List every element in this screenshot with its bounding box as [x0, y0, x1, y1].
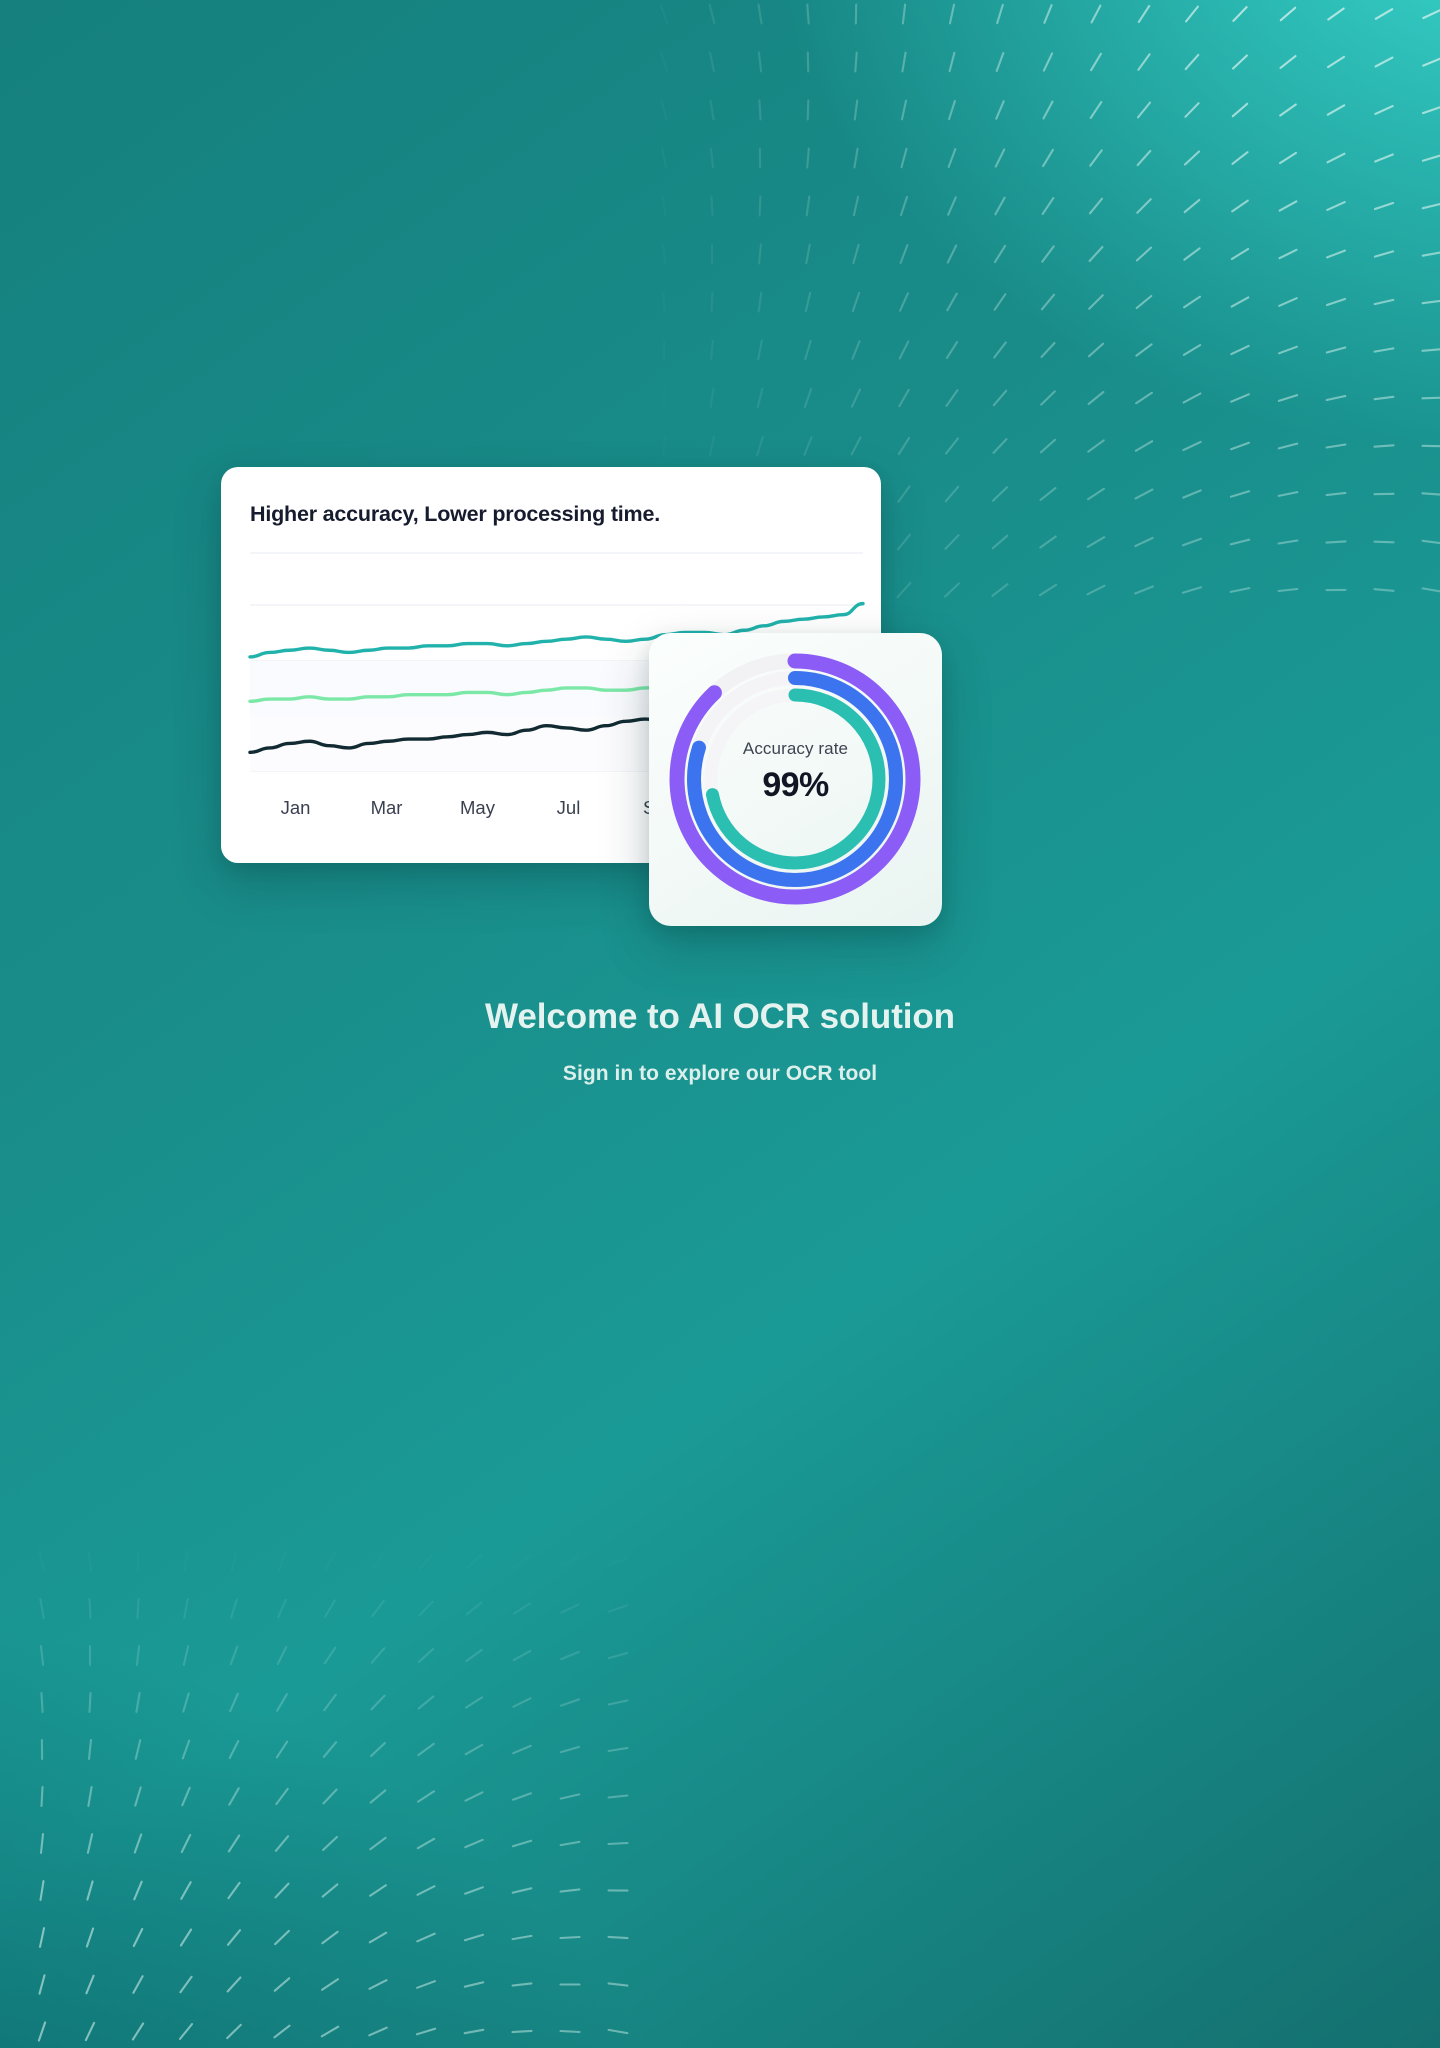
decorative-dash	[609, 1983, 628, 1985]
decorative-dash	[1375, 397, 1394, 399]
decorative-dash	[663, 389, 664, 408]
decorative-dash	[899, 438, 909, 454]
decorative-dash	[1231, 491, 1249, 497]
decorative-dash	[1090, 150, 1101, 165]
decorative-dash	[561, 1699, 579, 1705]
decorative-dash	[1375, 251, 1393, 256]
decorative-dash	[852, 389, 860, 406]
decorative-dash	[133, 1976, 142, 1993]
hero-copy: Welcome to AI OCR solution Sign in to ex…	[0, 997, 1440, 1086]
decorative-dash	[1375, 542, 1394, 543]
decorative-dash	[278, 1600, 286, 1617]
decorative-dash	[466, 1697, 482, 1707]
decorative-dash	[662, 101, 667, 119]
decorative-dash	[1279, 395, 1297, 401]
decorative-dash	[609, 1748, 628, 1751]
decorative-dash	[1280, 105, 1296, 116]
decorative-dash	[1091, 102, 1102, 118]
decorative-dash	[1423, 588, 1440, 591]
decorative-dash	[808, 101, 809, 120]
decorative-dash	[372, 1601, 384, 1616]
decorative-dash	[1186, 55, 1199, 69]
decorative-dash	[1040, 585, 1056, 595]
decorative-dash	[1279, 444, 1297, 449]
decorative-dash	[1279, 347, 1297, 354]
decorative-dash	[419, 1649, 433, 1662]
decorative-dash	[514, 1651, 531, 1660]
decorative-dash	[1044, 5, 1051, 23]
decorative-dash	[609, 1937, 628, 1938]
decorative-dash	[465, 1982, 483, 1986]
decorative-dash	[853, 293, 859, 311]
decorative-dash	[1044, 102, 1053, 119]
decorative-dash	[947, 390, 958, 406]
decorative-dash	[135, 1835, 141, 1853]
decorative-dash	[513, 1983, 532, 1985]
axis-tick-jan: Jan	[250, 797, 341, 837]
decorative-dash	[1423, 349, 1440, 351]
decorative-dash	[1231, 443, 1249, 449]
decorative-dash	[514, 1603, 530, 1613]
decorative-dash	[807, 197, 810, 216]
decorative-dash	[90, 1599, 91, 1618]
decorative-dash	[373, 1554, 384, 1570]
decorative-dash	[324, 1742, 336, 1757]
decorative-dash	[136, 1693, 139, 1712]
decorative-dash	[322, 1979, 338, 1990]
decorative-dash	[86, 2023, 94, 2040]
decorative-dash	[1327, 493, 1346, 495]
decorative-dash	[89, 1552, 91, 1571]
decorative-dash	[1328, 9, 1343, 20]
decorative-dash	[661, 53, 667, 71]
decorative-dash	[323, 1837, 337, 1850]
decorative-dash	[324, 1695, 335, 1710]
decorative-dash	[899, 486, 910, 501]
decorative-dash	[276, 1789, 287, 1804]
decorative-dash	[40, 1552, 44, 1570]
decorative-dash	[712, 293, 713, 312]
decorative-dash	[1328, 105, 1344, 114]
decorative-dash	[277, 1742, 287, 1758]
accuracy-rate-value: 99%	[649, 766, 942, 805]
decorative-dash	[609, 1796, 628, 1798]
decorative-dash	[87, 1929, 93, 1947]
decorative-dash	[1183, 587, 1201, 592]
decorative-dash	[90, 1693, 91, 1712]
decorative-dash	[136, 1740, 140, 1759]
decorative-dash	[1423, 204, 1440, 208]
decorative-dash	[137, 1646, 139, 1665]
decorative-dash	[711, 341, 713, 360]
decorative-dash	[854, 197, 858, 216]
decorative-dash	[1043, 198, 1054, 214]
decorative-dash	[184, 1646, 188, 1664]
decorative-dash	[996, 101, 1003, 118]
decorative-dash	[183, 1693, 188, 1711]
decorative-dash	[1089, 295, 1103, 308]
axis-tick-mar: Mar	[341, 797, 432, 837]
decorative-dash	[417, 1981, 435, 1988]
decorative-dash	[181, 1882, 190, 1899]
decorative-dash	[371, 1790, 386, 1802]
decorative-dash	[1090, 199, 1102, 214]
decorative-dash	[1327, 445, 1346, 448]
decorative-dash	[1233, 7, 1246, 21]
decorative-dash	[663, 437, 665, 456]
decorative-dash	[324, 1790, 337, 1804]
decorative-dash	[41, 1834, 43, 1853]
decorative-dash	[949, 101, 955, 119]
decorative-dash	[1135, 538, 1152, 546]
decorative-dash	[561, 1652, 579, 1659]
decorative-dash	[806, 293, 810, 311]
decorative-dash	[231, 1647, 238, 1665]
decorative-dash	[513, 1793, 531, 1799]
decorative-dash	[40, 1928, 44, 1947]
decorative-dash	[88, 1787, 91, 1806]
decorative-dash	[466, 1745, 483, 1754]
decorative-dash	[853, 341, 860, 359]
decorative-dash	[467, 1555, 481, 1568]
decorative-dash	[88, 1834, 92, 1853]
decorative-dash	[1042, 343, 1055, 357]
decorative-dash	[1279, 541, 1298, 544]
decorative-dash	[562, 1557, 579, 1566]
decorative-dash	[228, 1930, 240, 1945]
decorative-dash	[513, 2031, 532, 2032]
decorative-dash	[418, 1791, 434, 1801]
decorative-dash	[326, 1553, 335, 1570]
decorative-dash	[711, 101, 714, 120]
decorative-dash	[561, 1747, 579, 1752]
decorative-dash	[1327, 299, 1345, 305]
decorative-dash	[181, 1930, 191, 1946]
decorative-dash	[185, 1552, 187, 1571]
decorative-dash	[661, 5, 667, 23]
decorative-dash	[1279, 298, 1296, 306]
decorative-dash	[230, 1741, 239, 1758]
decorative-dash	[946, 439, 958, 454]
decorative-dash	[760, 197, 761, 216]
decorative-dash	[1184, 297, 1200, 308]
decorative-dash	[514, 1698, 531, 1706]
decorative-dash	[1327, 202, 1344, 210]
decorative-dash	[184, 1599, 187, 1618]
decorative-dash	[1090, 247, 1103, 261]
decorative-dash	[996, 150, 1004, 167]
decorative-dash	[1423, 107, 1440, 113]
decorative-dash	[949, 149, 956, 167]
decorative-dash	[1233, 152, 1248, 164]
decorative-dash	[609, 2030, 628, 2033]
decorative-dash	[465, 1887, 483, 1893]
decorative-dash	[1231, 346, 1248, 354]
decorative-dash	[1281, 56, 1296, 68]
decorative-dash	[370, 1885, 386, 1895]
decorative-dash	[1232, 201, 1248, 212]
decorative-dash	[993, 487, 1007, 500]
decorative-dash	[1186, 7, 1198, 22]
decorative-dash	[1137, 248, 1151, 261]
decorative-dash	[997, 53, 1004, 71]
decorative-dash	[898, 535, 910, 550]
decorative-dash	[855, 101, 857, 120]
decorative-dash	[947, 342, 957, 358]
decorative-dash	[853, 245, 858, 263]
decorative-dash	[465, 2030, 484, 2033]
decorative-dash	[948, 197, 956, 214]
decorative-dash	[418, 1839, 434, 1848]
decorative-dash	[1185, 200, 1200, 212]
decorative-dash	[323, 1884, 338, 1896]
decorative-dash	[1376, 58, 1393, 67]
decorative-dash	[1375, 300, 1394, 304]
decorative-dash	[1136, 441, 1152, 451]
decorative-dash	[1042, 246, 1053, 261]
decorative-dash	[1279, 589, 1298, 591]
decorative-dash	[325, 1600, 335, 1616]
decorative-dash	[183, 1741, 189, 1759]
decorative-dash	[1139, 6, 1149, 22]
decorative-dash	[899, 390, 908, 406]
decorative-dash	[513, 1888, 532, 1892]
decorative-dash	[1088, 489, 1104, 499]
decorative-dash	[277, 1694, 287, 1710]
decorative-dash	[1423, 10, 1440, 18]
decorative-dash	[228, 1883, 239, 1898]
decorative-dash	[1138, 151, 1151, 165]
decorative-dash	[1184, 345, 1200, 355]
decorative-dash	[1137, 199, 1150, 212]
decorative-dash	[182, 1835, 190, 1852]
decorative-dash	[804, 437, 811, 455]
decorative-dash	[561, 1604, 578, 1612]
decorative-dash	[1136, 393, 1152, 403]
decorative-dash	[993, 536, 1007, 548]
login-splash-screen: Higher accuracy, Lower processing time. …	[0, 0, 1440, 2048]
decorative-dash	[561, 1937, 580, 1938]
decorative-dash	[1232, 297, 1249, 306]
decorative-dash	[805, 341, 810, 359]
decorative-dash	[995, 294, 1006, 310]
decorative-dash	[609, 1653, 627, 1658]
decorative-dash	[710, 437, 714, 456]
decorative-dash	[513, 1746, 531, 1753]
decorative-dash	[1185, 103, 1198, 117]
decorative-dash	[276, 1836, 288, 1851]
decorative-dash	[1231, 394, 1249, 401]
decorative-dash	[419, 1602, 432, 1616]
decorative-dash	[997, 5, 1003, 23]
decorative-dash	[1092, 6, 1101, 23]
decorative-dash	[465, 1840, 482, 1847]
decorative-dash	[41, 1881, 44, 1900]
decorative-dash	[39, 2023, 45, 2041]
decorative-dash	[900, 293, 908, 310]
decorative-dash	[279, 1553, 286, 1571]
decorative-dash	[182, 1788, 189, 1805]
decorative-dash	[1040, 537, 1055, 548]
decorative-dash	[945, 535, 958, 549]
decorative-dash	[465, 1935, 483, 1940]
decorative-dash	[903, 5, 905, 24]
decorative-dash	[663, 197, 666, 216]
decorative-dash	[901, 245, 908, 263]
decorative-dash	[1375, 203, 1393, 209]
decorative-dash	[901, 197, 907, 215]
decorative-dash	[370, 1933, 386, 1943]
decorative-dash	[1375, 106, 1392, 114]
decorative-dash	[1328, 57, 1344, 67]
decorative-dash	[561, 1794, 580, 1798]
decorative-dash	[1423, 58, 1440, 65]
decorative-dash	[230, 1694, 238, 1711]
decorative-dash	[514, 1556, 529, 1567]
decorative-dash	[805, 389, 811, 407]
decorative-dash	[561, 1889, 580, 1891]
decorative-dash	[1281, 8, 1295, 20]
decorative-dash	[229, 1788, 238, 1804]
decorative-dash	[1423, 301, 1440, 303]
decorative-dash	[1423, 252, 1440, 255]
decorative-dash	[418, 1744, 433, 1755]
decorative-dash	[759, 101, 760, 120]
decorative-dash	[561, 1842, 580, 1845]
decorative-dash	[1375, 348, 1394, 351]
decorative-dash	[89, 1740, 91, 1759]
decorative-dash	[1135, 587, 1153, 594]
decorative-dash	[275, 2026, 290, 2038]
decorative-dash	[995, 198, 1004, 215]
decorative-dash	[1042, 295, 1054, 310]
decorative-dash	[86, 1976, 93, 1994]
decorative-dash	[1183, 442, 1200, 450]
decorative-dash	[1328, 154, 1345, 163]
decorative-dash	[1041, 440, 1055, 453]
decorative-dash	[609, 1605, 627, 1611]
decorative-dash	[1327, 348, 1345, 353]
decorative-dash	[898, 583, 911, 597]
decorative-dash	[1233, 104, 1247, 116]
decorative-dash	[945, 584, 959, 597]
decorative-dash	[759, 293, 762, 312]
decorative-dash	[1375, 445, 1394, 446]
axis-tick-jul: Jul	[523, 797, 614, 837]
decorative-dash	[370, 1838, 385, 1849]
decorative-dash	[42, 1787, 43, 1806]
decorative-dash	[711, 389, 714, 408]
decorative-dash	[466, 1792, 483, 1800]
decorative-dash	[854, 149, 857, 168]
decorative-dash	[1279, 492, 1298, 496]
decorative-dash	[993, 584, 1008, 596]
decorative-dash	[420, 1554, 432, 1568]
decorative-dash	[1280, 201, 1297, 210]
decorative-dash	[40, 1599, 43, 1618]
decorative-dash	[229, 1836, 239, 1852]
decorative-dash	[994, 391, 1006, 405]
decorative-dash	[325, 1648, 336, 1664]
decorative-dash	[228, 1978, 241, 1992]
decorative-dash	[852, 438, 861, 455]
decorative-dash	[1138, 54, 1149, 69]
decorative-dash	[1231, 588, 1250, 592]
decorative-dash	[180, 2024, 192, 2039]
decorative-dash	[609, 1701, 628, 1705]
decorative-dash	[370, 1980, 387, 1989]
decorative-dash	[609, 1558, 627, 1565]
decorative-dash	[1088, 586, 1105, 595]
decorative-dash	[1233, 56, 1247, 69]
decorative-dash	[662, 149, 666, 168]
decorative-dash	[466, 1650, 481, 1661]
decorative-dash	[1041, 391, 1055, 404]
decorative-dash	[1138, 103, 1150, 118]
decorative-dash	[950, 5, 954, 24]
decorative-dash	[757, 437, 763, 455]
decorative-dash	[711, 149, 713, 168]
decorative-dash	[1185, 152, 1199, 165]
decorative-dash-pattern-bottom-left	[0, 1538, 670, 2048]
decorative-dash	[417, 2029, 435, 2035]
decorative-dash	[1088, 440, 1103, 451]
decorative-dash	[995, 246, 1005, 262]
decorative-dash	[1232, 249, 1248, 259]
decorative-dash	[513, 1841, 531, 1846]
decorative-dash	[1327, 251, 1345, 258]
decorative-dash	[137, 1599, 138, 1618]
accuracy-rate-label: Accuracy rate	[649, 739, 942, 759]
decorative-dash	[1183, 539, 1201, 545]
decorative-dash	[1280, 153, 1296, 163]
decorative-dash	[1327, 541, 1346, 542]
decorative-dash	[900, 342, 909, 359]
axis-tick-may: May	[432, 797, 523, 837]
decorative-dash	[1423, 398, 1440, 399]
page-subtitle: Sign in to explore our OCR tool	[0, 1062, 1440, 1086]
decorative-dash	[227, 2025, 241, 2038]
decorative-dash	[710, 53, 714, 72]
decorative-dash	[663, 245, 665, 264]
decorative-dash	[1184, 248, 1199, 259]
decorative-dash	[807, 149, 809, 168]
decorative-dash	[467, 1603, 482, 1615]
decorative-dash	[513, 1936, 532, 1939]
decorative-dash	[1041, 488, 1056, 500]
decorative-dash	[947, 294, 956, 311]
accuracy-rate-card: Accuracy rate 99%	[649, 633, 942, 926]
decorative-dash	[950, 53, 955, 71]
decorative-dash	[712, 197, 713, 216]
decorative-dash	[371, 1743, 385, 1756]
decorative-dash	[133, 2024, 143, 2040]
decorative-dash	[806, 245, 809, 264]
decorative-dash	[561, 2031, 580, 2032]
decorative-dash	[902, 101, 906, 120]
decorative-dash	[902, 149, 907, 167]
decorative-dash	[1375, 589, 1394, 591]
decorative-dash	[276, 1884, 289, 1898]
decorative-dash	[40, 1975, 45, 1993]
decorative-dash	[1375, 155, 1393, 162]
decorative-dash	[994, 439, 1007, 453]
decorative-dash	[419, 1697, 434, 1709]
decorative-dash	[1423, 155, 1440, 160]
decorative-dash	[1137, 296, 1152, 308]
decorative-dash	[759, 53, 761, 72]
decorative-dash	[994, 343, 1006, 358]
